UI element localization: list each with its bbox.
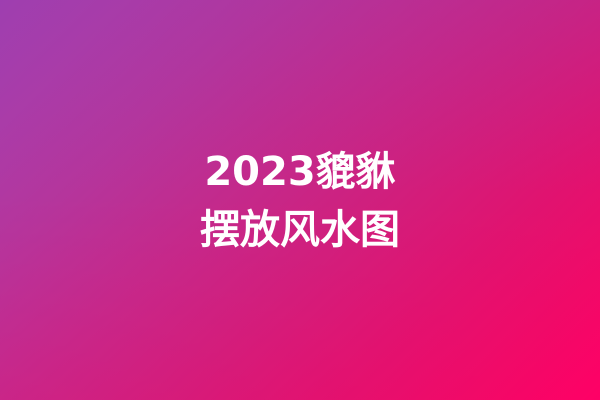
title-line-2: 摆放风水图	[0, 210, 600, 250]
image-canvas: 2023貔貅 摆放风水图	[0, 0, 600, 400]
title-line-1: 2023貔貅	[0, 152, 600, 192]
title-block: 2023貔貅 摆放风水图	[0, 152, 600, 250]
